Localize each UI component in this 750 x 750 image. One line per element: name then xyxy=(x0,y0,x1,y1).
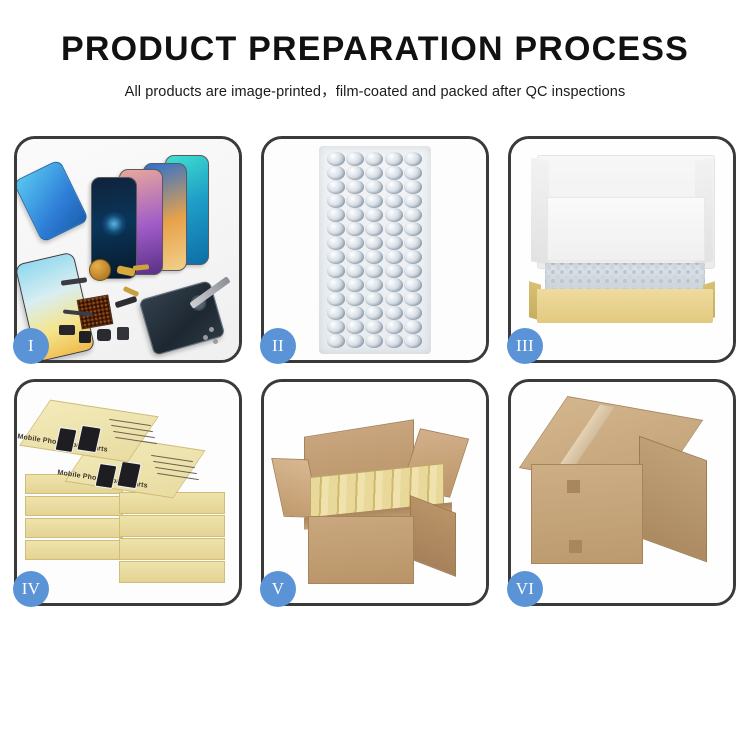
process-steps-grid: I II xyxy=(14,136,736,606)
retail-box xyxy=(25,540,123,560)
step-badge-iii: III xyxy=(507,328,543,364)
bubble-wrapped-contents xyxy=(545,263,705,291)
step-panel-iv: Mobile Phone Spare Parts Mobile Phone Sp… xyxy=(14,379,242,606)
screw-icon xyxy=(213,339,218,344)
retail-box xyxy=(25,496,123,516)
component-block-icon xyxy=(59,325,75,335)
step-panel-ii: II xyxy=(261,136,489,363)
step-badge-ii: II xyxy=(260,328,296,364)
carton-handle-notch xyxy=(567,480,580,493)
screw-icon xyxy=(203,335,208,340)
step-image-sealed-carton xyxy=(511,382,733,603)
phone-fan-group xyxy=(69,153,239,273)
camera-module-icon xyxy=(79,331,91,343)
carton-handle-notch xyxy=(569,540,582,553)
retail-box xyxy=(119,561,225,583)
step-image-bubble-wrap xyxy=(264,139,486,360)
carton-side-panel xyxy=(639,436,707,563)
step-image-stacked-boxes: Mobile Phone Spare Parts Mobile Phone Sp… xyxy=(17,382,239,603)
speaker-module-icon xyxy=(89,259,111,281)
box-front-panel xyxy=(537,289,713,323)
sim-tray-icon xyxy=(117,327,129,340)
retail-box-stack: Mobile Phone Spare Parts Mobile Phone Sp… xyxy=(23,400,233,590)
screw-icon xyxy=(209,327,214,332)
bubble-grid xyxy=(327,152,423,348)
box-interior xyxy=(547,197,705,261)
step-image-products xyxy=(17,139,239,360)
step-image-open-carton xyxy=(264,382,486,603)
step-image-inner-box xyxy=(511,139,733,360)
step-badge-iv: IV xyxy=(13,571,49,607)
carton-front-panel xyxy=(308,516,414,584)
retail-box xyxy=(25,518,123,538)
retail-box xyxy=(119,515,225,537)
page-header: PRODUCT PREPARATION PROCESS All products… xyxy=(0,0,750,101)
page-title: PRODUCT PREPARATION PROCESS xyxy=(0,32,750,68)
step-badge-v: V xyxy=(260,571,296,607)
button-flex-icon xyxy=(115,296,138,309)
carton-front-panel xyxy=(531,464,643,564)
step-badge-i: I xyxy=(13,328,49,364)
step-panel-v: V xyxy=(261,379,489,606)
vibrator-module-icon xyxy=(97,329,111,341)
step-panel-i: I xyxy=(14,136,242,363)
step-badge-vi: VI xyxy=(507,571,543,607)
antenna-clip-icon xyxy=(123,286,140,297)
page-subtitle: All products are image-printed，film-coat… xyxy=(0,80,750,101)
step-panel-vi: VI xyxy=(508,379,736,606)
retail-box xyxy=(119,538,225,560)
step-panel-iii: III xyxy=(508,136,736,363)
